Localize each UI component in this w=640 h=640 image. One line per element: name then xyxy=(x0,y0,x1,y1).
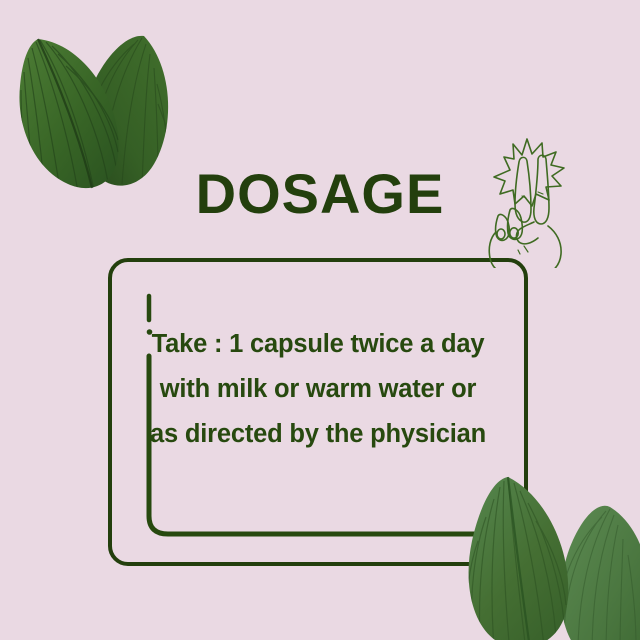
peace-sign-hand-icon xyxy=(472,126,568,268)
nail-icon xyxy=(497,229,505,239)
dosage-instruction-text: Take : 1 capsule twice a day with milk o… xyxy=(150,322,486,457)
leaf-shape-back xyxy=(558,506,640,640)
leaf-shape-back xyxy=(82,36,172,186)
dosage-poster: DOSAGE Take : 1 capsule twice a day with… xyxy=(0,0,640,640)
